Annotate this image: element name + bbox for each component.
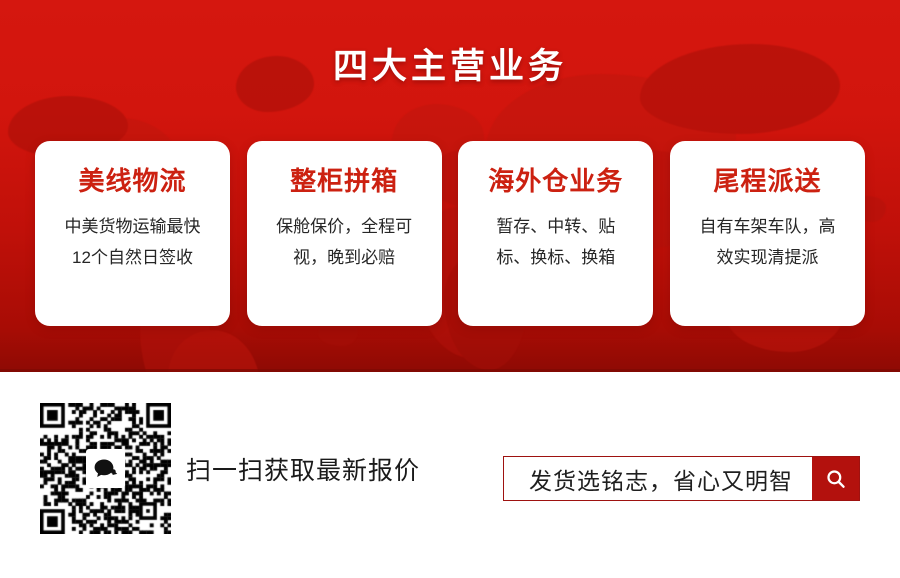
search-button[interactable] bbox=[812, 457, 859, 500]
search-bar[interactable]: 发货选铭志，省心又明智 bbox=[503, 456, 860, 501]
service-card-desc: 保舱保价，全程可 视，晚到必赔 bbox=[259, 211, 430, 273]
service-card-desc-line: 效实现清提派 bbox=[686, 242, 849, 273]
service-card-desc-line: 12个自然日签收 bbox=[51, 242, 214, 273]
page-title: 四大主营业务 bbox=[0, 44, 900, 90]
service-card-desc: 自有车架车队，高 效实现清提派 bbox=[682, 211, 853, 273]
hero-section: 四大主营业务 美线物流 中美货物运输最快 12个自然日签收 整柜拼箱 保舱保价，… bbox=[0, 0, 900, 372]
scan-prompt-text: 扫一扫获取最新报价 bbox=[186, 454, 420, 488]
search-icon bbox=[825, 468, 847, 490]
qr-code[interactable] bbox=[40, 403, 171, 534]
service-card-desc-line: 保舱保价，全程可 bbox=[263, 211, 426, 242]
service-card-2[interactable]: 整柜拼箱 保舱保价，全程可 视，晚到必赔 bbox=[247, 141, 442, 326]
service-card-title: 海外仓业务 bbox=[470, 165, 641, 197]
service-card-1[interactable]: 美线物流 中美货物运输最快 12个自然日签收 bbox=[35, 141, 230, 326]
search-input[interactable]: 发货选铭志，省心又明智 bbox=[504, 457, 812, 500]
service-card-4[interactable]: 尾程派送 自有车架车队，高 效实现清提派 bbox=[670, 141, 865, 326]
service-card-desc-line: 中美货物运输最快 bbox=[51, 211, 214, 242]
footer-section: 扫一扫获取最新报价 发货选铭志，省心又明智 bbox=[0, 372, 900, 578]
service-card-desc-line: 暂存、中转、贴 bbox=[474, 211, 637, 242]
service-card-3[interactable]: 海外仓业务 暂存、中转、贴 标、换标、换箱 bbox=[458, 141, 653, 326]
chat-bubble-icon bbox=[86, 449, 125, 488]
service-card-desc-line: 视，晚到必赔 bbox=[263, 242, 426, 273]
service-card-desc: 暂存、中转、贴 标、换标、换箱 bbox=[470, 211, 641, 273]
service-card-desc: 中美货物运输最快 12个自然日签收 bbox=[47, 211, 218, 273]
service-card-title: 美线物流 bbox=[47, 165, 218, 197]
service-card-desc-line: 标、换标、换箱 bbox=[474, 242, 637, 273]
service-card-desc-line: 自有车架车队，高 bbox=[686, 211, 849, 242]
promo-banner: 四大主营业务 美线物流 中美货物运输最快 12个自然日签收 整柜拼箱 保舱保价，… bbox=[0, 0, 900, 578]
service-card-title: 整柜拼箱 bbox=[259, 165, 430, 197]
service-card-title: 尾程派送 bbox=[682, 165, 853, 197]
service-card-row: 美线物流 中美货物运输最快 12个自然日签收 整柜拼箱 保舱保价，全程可 视，晚… bbox=[35, 141, 865, 326]
